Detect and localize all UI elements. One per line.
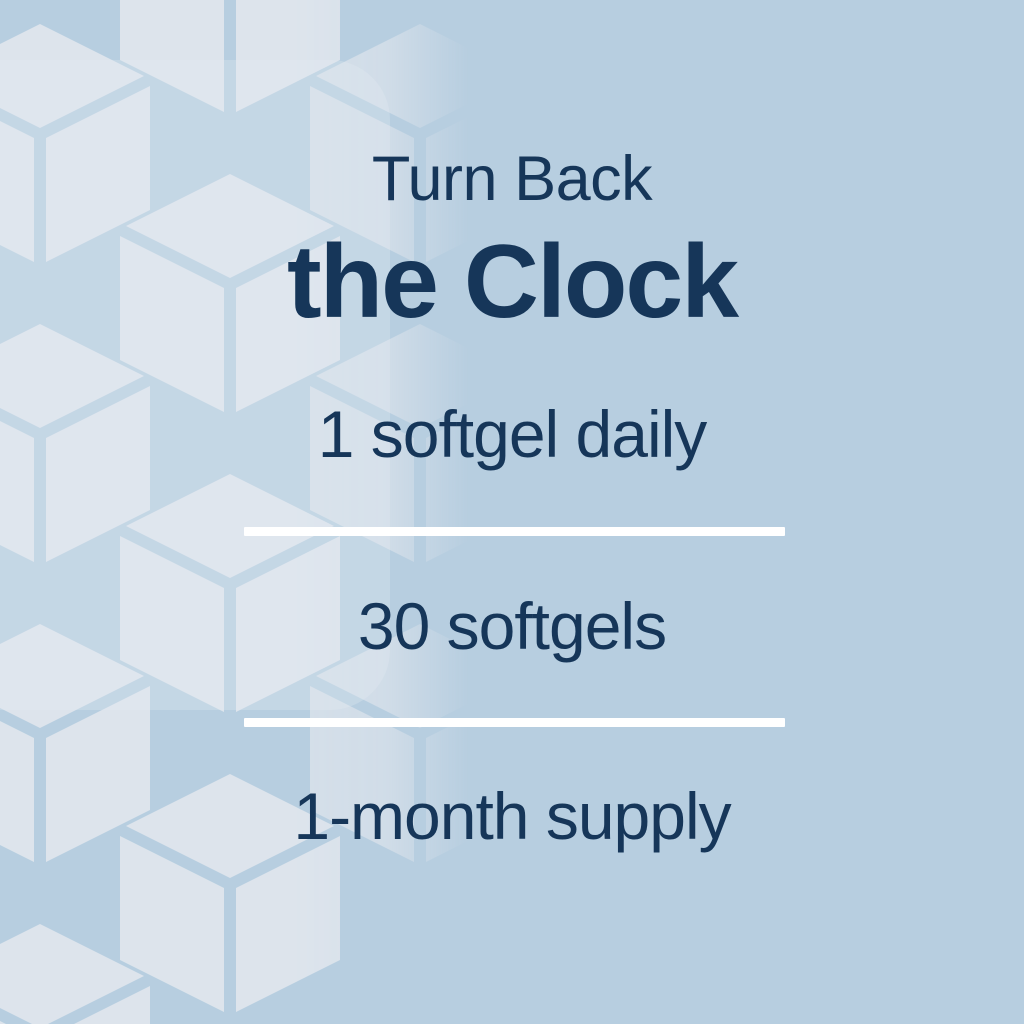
spec-supply: 1-month supply [0, 782, 1024, 851]
headline-eyebrow: Turn Back [0, 146, 1024, 212]
spec-dose: 1 softgel daily [0, 400, 1024, 469]
marketing-graphic-canvas: Turn Back the Clock 1 softgel daily 30 s… [0, 0, 1024, 1024]
headline-title: the Clock [0, 228, 1024, 337]
spec-count: 30 softgels [0, 592, 1024, 661]
divider-rule-1 [244, 527, 785, 536]
divider-rule-2 [244, 718, 785, 727]
